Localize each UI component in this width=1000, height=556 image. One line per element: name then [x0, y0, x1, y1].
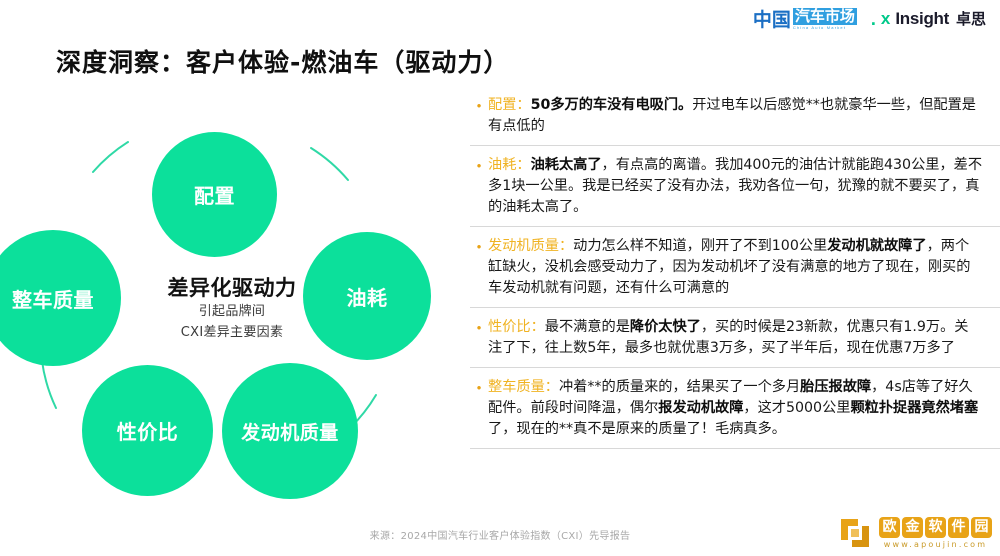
watermark-char: 金: [902, 517, 923, 538]
china-auto-market-logo: 中国 汽车市场 China Auto Market: [753, 8, 857, 30]
diagram-center-subtitle-line2: CXI差异主要因素: [132, 322, 332, 343]
insight-text: 发动机质量：动力怎么样不知道，刚开了不到100公里发动机就故障了，两个缸缺火，没…: [488, 236, 982, 299]
watermark-chars: 欧金软件园: [879, 517, 992, 538]
insight-body: ，这才5000公里: [743, 400, 850, 416]
diagram-center-title: 差异化驱动力: [132, 275, 332, 301]
insight-emphasis: 胎压报故障: [800, 379, 871, 395]
cam-logo-subtitle: China Auto Market: [793, 25, 846, 30]
diagram-node-engine-quality[interactable]: 发动机质量: [222, 363, 358, 499]
insight-emphasis: 50多万的车没有电吸门。: [531, 97, 693, 113]
insight-row: •配置：50多万的车没有电吸门。开过电车以后感觉**也就豪华一些，但配置是有点低…: [470, 86, 1000, 145]
insight-body: 了，现在的**真不是原来的质量了！毛病真多。: [488, 421, 786, 437]
watermark-char: 欧: [879, 517, 900, 538]
watermark: 欧金软件园 www.apoujin.com: [838, 516, 992, 550]
watermark-char: 园: [971, 517, 992, 538]
watermark-logo-icon: [838, 516, 872, 550]
diagram-node-vehicle-quality[interactable]: 整车质量: [0, 230, 121, 366]
diagram-node-vehicle-quality-label: 整车质量: [12, 284, 94, 313]
insight-row: •发动机质量：动力怎么样不知道，刚开了不到100公里发动机就故障了，两个缸缺火，…: [470, 226, 1000, 307]
watermark-char: 软: [925, 517, 946, 538]
maxinsight-wordmark: Insight: [895, 10, 949, 28]
insight-emphasis: 降价太快了: [630, 319, 701, 335]
watermark-url: www.apoujin.com: [884, 540, 988, 549]
cam-logo-highlight: 汽车市场: [793, 8, 857, 25]
insight-body: 动力怎么样不知道，刚开了不到100公里: [573, 238, 827, 254]
maxinsight-logo: . x Insight 卓思: [871, 10, 986, 28]
insight-emphasis: 发动机就故障了: [827, 238, 926, 254]
brand-logo-bar: 中国 汽车市场 China Auto Market . x Insight 卓思: [753, 6, 986, 32]
watermark-char: 件: [948, 517, 969, 538]
bullet-icon: •: [470, 317, 488, 337]
maxinsight-x: x: [881, 10, 890, 28]
insight-row: •整车质量：冲着**的质量来的，结果买了一个多月胎压报故障，4s店等了好久配件。…: [470, 367, 1000, 449]
diagram-center-subtitle-line1: 引起品牌间: [132, 301, 332, 322]
insight-category-label: 性价比：: [488, 319, 545, 335]
insight-body: 最不满意的是: [545, 319, 630, 335]
maxinsight-dot: .: [871, 10, 876, 28]
insight-text: 整车质量：冲着**的质量来的，结果买了一个多月胎压报故障，4s店等了好久配件。前…: [488, 377, 982, 440]
diagram-node-engine-quality-label: 发动机质量: [241, 418, 339, 445]
page-title: 深度洞察：客户体验-燃油车（驱动力）: [56, 43, 509, 79]
insight-text: 油耗：油耗太高了，有点高的离谱。我加400元的油估计就能跑430公里，差不多1块…: [488, 155, 982, 218]
driver-circle-diagram: 配置 油耗 整车质量 性价比 发动机质量 差异化驱动力 引起品牌间 CXI差异主…: [0, 120, 460, 520]
insight-emphasis: 报发动机故障: [658, 400, 743, 416]
cam-logo-prefix: 中国: [753, 11, 791, 30]
bullet-icon: •: [470, 236, 488, 256]
bullet-icon: •: [470, 377, 488, 397]
insight-row: •油耗：油耗太高了，有点高的离谱。我加400元的油估计就能跑430公里，差不多1…: [470, 145, 1000, 226]
diagram-node-config-label: 配置: [194, 180, 235, 209]
bullet-icon: •: [470, 95, 488, 115]
insight-category-label: 发动机质量：: [488, 238, 573, 254]
insight-category-label: 配置：: [488, 97, 531, 113]
insight-body: 冲着**的质量来的，结果买了一个多月: [559, 379, 800, 395]
diagram-node-value-for-money[interactable]: 性价比: [82, 365, 213, 496]
insight-row: •性价比：最不满意的是降价太快了，买的时候是23新款，优惠只有1.9万。关注了下…: [470, 307, 1000, 367]
bullet-icon: •: [470, 155, 488, 175]
diagram-node-config[interactable]: 配置: [152, 132, 277, 257]
insight-category-label: 整车质量：: [488, 379, 559, 395]
insight-list: •配置：50多万的车没有电吸门。开过电车以后感觉**也就豪华一些，但配置是有点低…: [470, 86, 1000, 449]
cam-logo-box: 汽车市场 China Auto Market: [793, 8, 857, 30]
diagram-node-fuel-label: 油耗: [347, 282, 388, 311]
insight-text: 配置：50多万的车没有电吸门。开过电车以后感觉**也就豪华一些，但配置是有点低的: [488, 95, 982, 137]
insight-category-label: 油耗：: [488, 157, 531, 173]
insight-text: 性价比：最不满意的是降价太快了，买的时候是23新款，优惠只有1.9万。关注了下，…: [488, 317, 982, 359]
diagram-center-label: 差异化驱动力 引起品牌间 CXI差异主要因素: [132, 275, 332, 343]
diagram-node-value-for-money-label: 性价比: [117, 416, 179, 445]
insight-emphasis: 油耗太高了: [531, 157, 602, 173]
insight-emphasis: 颗粒扑捉器竟然堵塞: [850, 400, 978, 416]
watermark-text: 欧金软件园 www.apoujin.com: [879, 517, 992, 549]
maxinsight-cn-name: 卓思: [956, 10, 986, 28]
